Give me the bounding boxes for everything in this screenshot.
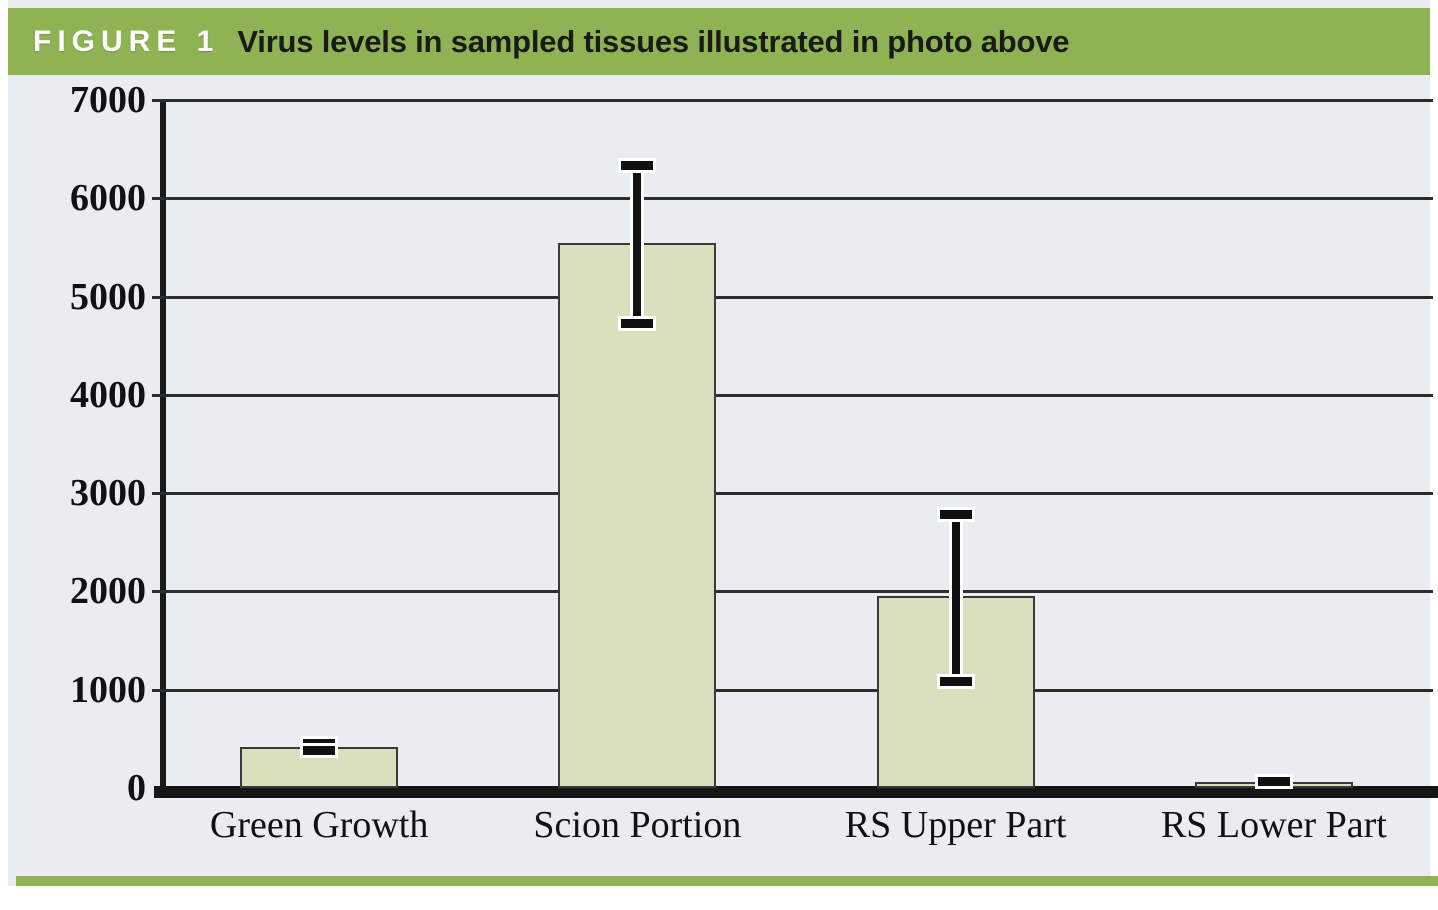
error-bar-stem bbox=[952, 510, 960, 686]
gridline bbox=[152, 492, 1433, 495]
error-bar-cap-top bbox=[940, 510, 972, 519]
x-axis-tick-label: RS Upper Part bbox=[845, 803, 1067, 847]
figure-card: FIGURE 1 Virus levels in sampled tissues… bbox=[8, 0, 1430, 886]
gridline bbox=[152, 197, 1433, 200]
error-bar-cap-bottom bbox=[1258, 777, 1290, 786]
chart-plot-area: 01000200030004000500060007000 Green Grow… bbox=[8, 75, 1430, 886]
y-axis-tick-labels: 01000200030004000500060007000 bbox=[8, 75, 146, 886]
gridline bbox=[152, 689, 1433, 692]
y-axis-tick-label: 7000 bbox=[16, 78, 146, 122]
x-axis-tick-label: Scion Portion bbox=[533, 803, 741, 847]
y-axis-tick-label: 5000 bbox=[16, 275, 146, 319]
gridline bbox=[152, 394, 1433, 397]
x-axis-tick-label: Green Growth bbox=[210, 803, 428, 847]
error-bar-cap-bottom bbox=[303, 746, 335, 755]
error-bar-stem bbox=[633, 161, 641, 328]
error-bar bbox=[617, 161, 657, 328]
gridline bbox=[152, 99, 1433, 102]
y-axis-tick-label: 3000 bbox=[16, 471, 146, 515]
error-bar-cap-top bbox=[621, 161, 653, 170]
y-axis-tick-label: 4000 bbox=[16, 373, 146, 417]
gridline bbox=[152, 296, 1433, 299]
footer-rule bbox=[16, 876, 1438, 886]
x-axis-tick-label: RS Lower Part bbox=[1161, 803, 1387, 847]
figure-header: FIGURE 1 Virus levels in sampled tissues… bbox=[8, 8, 1430, 75]
y-axis-tick-label: 6000 bbox=[16, 176, 146, 220]
error-bar-cap-bottom bbox=[621, 319, 653, 328]
figure-number-label: FIGURE 1 bbox=[33, 25, 219, 59]
chart-grid-region bbox=[152, 75, 1430, 886]
y-axis-tick-label: 2000 bbox=[16, 569, 146, 613]
error-bar bbox=[299, 739, 339, 755]
error-bar bbox=[936, 510, 976, 686]
figure-title: Virus levels in sampled tissues illustra… bbox=[237, 24, 1069, 60]
error-bar bbox=[1254, 777, 1294, 786]
y-axis-tick-label: 1000 bbox=[16, 668, 146, 712]
gridline bbox=[152, 590, 1433, 593]
y-axis-tick-label: 0 bbox=[16, 766, 146, 810]
error-bar-cap-bottom bbox=[940, 677, 972, 686]
